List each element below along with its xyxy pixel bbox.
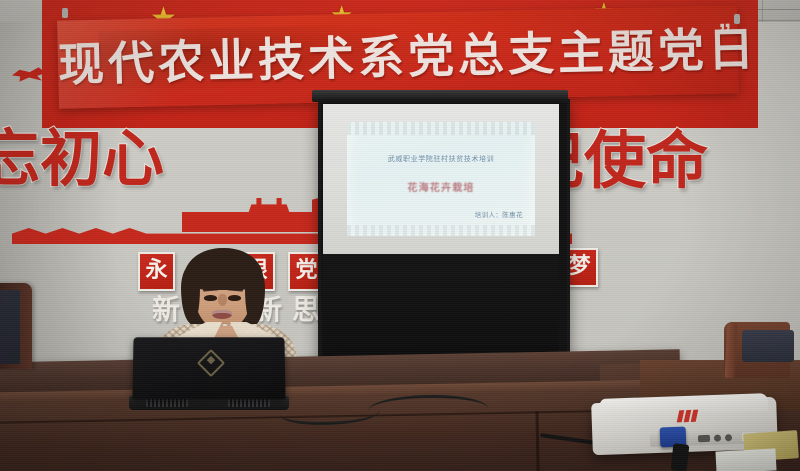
eye [228, 295, 241, 301]
tiananmen-icon [248, 198, 290, 214]
projection-screen: 武威职业学院驻村扶贫技术培训 花海花卉栽培 培训人：陈惠花 [318, 90, 564, 390]
wall-calligraphy-left: 忘初心 [0, 128, 164, 190]
chair-left-cushion [0, 290, 20, 364]
screen-surface: 武威职业学院驻村扶贫技术培训 花海花卉栽培 培训人：陈惠花 [323, 104, 559, 254]
projector-cable [671, 443, 690, 471]
projected-slide: 武威职业学院驻村扶贫技术培训 花海花卉栽培 培训人：陈惠花 [347, 122, 535, 236]
white-paper [715, 448, 776, 471]
laptop-vent [228, 399, 270, 407]
laptop-brand-logo-icon [197, 349, 225, 377]
hair-side [245, 264, 265, 326]
hair-side [181, 264, 200, 324]
banner-quote-mark: ” [718, 17, 732, 48]
eye [204, 295, 217, 301]
banner-title: 现代农业技术系党总支主题党日 [57, 11, 739, 102]
projector-brand-logo-icon [678, 410, 700, 424]
slide-header: 武威职业学院驻村扶贫技术培训 [347, 154, 535, 164]
banner-clip [62, 8, 68, 18]
photo-scene: ★ ★ ★ 现代农业技术系党总支主题党日 ” 忘初心 记使命 永 跟 党 梦 新… [0, 0, 800, 471]
banner-clip [734, 14, 740, 24]
screen-frame: 武威职业学院驻村扶贫技术培训 花海花卉栽培 培训人：陈惠花 [318, 99, 570, 387]
nose [218, 294, 227, 306]
laptop-lid[interactable] [132, 337, 285, 399]
cable [368, 395, 488, 424]
mouth [212, 310, 232, 319]
slide-title: 花海花卉栽培 [347, 179, 535, 194]
laptop-vent [146, 399, 188, 407]
chair-right-cushion [742, 330, 794, 362]
slide-presenter: 培训人：陈惠花 [475, 209, 523, 219]
